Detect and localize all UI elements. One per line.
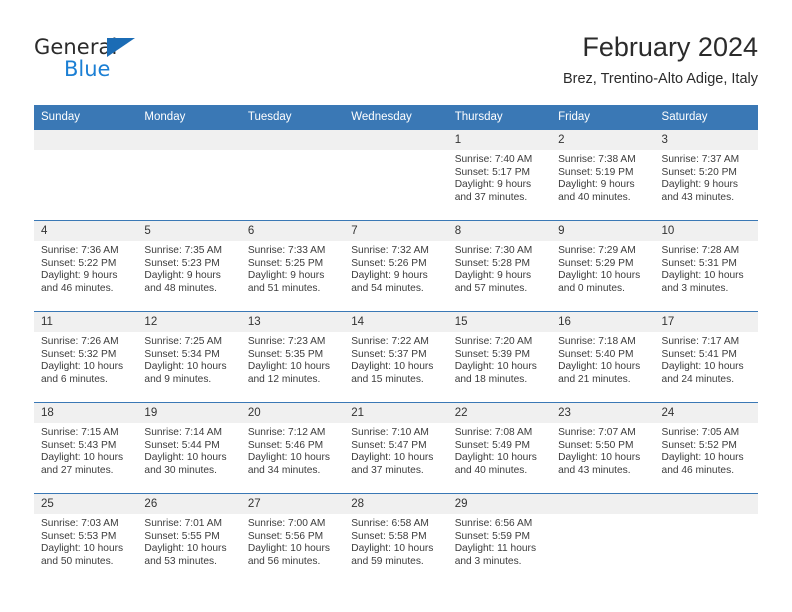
day-cell[interactable]: 15Sunrise: 7:20 AMSunset: 5:39 PMDayligh… — [448, 312, 551, 403]
day-number: 15 — [448, 312, 551, 332]
day-details: Sunrise: 7:10 AMSunset: 5:47 PMDaylight:… — [344, 423, 447, 477]
daylight-text-line1: Daylight: 10 hours — [41, 361, 131, 374]
day-cell[interactable]: 1Sunrise: 7:40 AMSunset: 5:17 PMDaylight… — [448, 130, 551, 221]
daylight-text-line1: Daylight: 10 hours — [662, 361, 752, 374]
day-number: 6 — [241, 221, 344, 241]
day-cell[interactable]: 13Sunrise: 7:23 AMSunset: 5:35 PMDayligh… — [241, 312, 344, 403]
daylight-text-line2: and 3 minutes. — [455, 556, 545, 569]
daylight-text-line2: and 43 minutes. — [662, 192, 752, 205]
sunrise-text: Sunrise: 7:00 AM — [248, 518, 338, 531]
daylight-text-line2: and 50 minutes. — [41, 556, 131, 569]
daylight-text-line1: Daylight: 9 hours — [455, 270, 545, 283]
day-details: Sunrise: 7:26 AMSunset: 5:32 PMDaylight:… — [34, 332, 137, 386]
day-details: Sunrise: 7:35 AMSunset: 5:23 PMDaylight:… — [137, 241, 240, 295]
day-details: Sunrise: 7:00 AMSunset: 5:56 PMDaylight:… — [241, 514, 344, 568]
day-cell[interactable]: 4Sunrise: 7:36 AMSunset: 5:22 PMDaylight… — [34, 221, 137, 312]
day-details: Sunrise: 7:38 AMSunset: 5:19 PMDaylight:… — [551, 150, 654, 204]
day-cell[interactable]: 17Sunrise: 7:17 AMSunset: 5:41 PMDayligh… — [655, 312, 758, 403]
day-number: 28 — [344, 494, 447, 514]
day-details: Sunrise: 7:37 AMSunset: 5:20 PMDaylight:… — [655, 150, 758, 204]
week-row: 25Sunrise: 7:03 AMSunset: 5:53 PMDayligh… — [34, 494, 758, 585]
daylight-text-line2: and 18 minutes. — [455, 374, 545, 387]
week-row: 11Sunrise: 7:26 AMSunset: 5:32 PMDayligh… — [34, 312, 758, 403]
weekday-header-friday: Friday — [551, 105, 654, 130]
weekday-header-saturday: Saturday — [655, 105, 758, 130]
day-number: 12 — [137, 312, 240, 332]
sunrise-text: Sunrise: 7:37 AM — [662, 154, 752, 167]
calendar-page: General Blue February 2024 Brez, Trentin… — [0, 0, 792, 612]
sunset-text: Sunset: 5:19 PM — [558, 167, 648, 180]
sunrise-text: Sunrise: 7:20 AM — [455, 336, 545, 349]
day-number: 3 — [655, 130, 758, 150]
daylight-text-line2: and 27 minutes. — [41, 465, 131, 478]
weekday-header-row-group: Sunday Monday Tuesday Wednesday Thursday… — [34, 105, 758, 130]
day-details — [241, 150, 344, 154]
day-number: 23 — [551, 403, 654, 423]
month-calendar-table: Sunday Monday Tuesday Wednesday Thursday… — [34, 105, 758, 584]
sunrise-text: Sunrise: 7:33 AM — [248, 245, 338, 258]
day-details — [137, 150, 240, 154]
day-details: Sunrise: 7:15 AMSunset: 5:43 PMDaylight:… — [34, 423, 137, 477]
sunrise-text: Sunrise: 7:18 AM — [558, 336, 648, 349]
daylight-text-line2: and 57 minutes. — [455, 283, 545, 296]
day-cell[interactable] — [34, 130, 137, 221]
sunrise-text: Sunrise: 7:08 AM — [455, 427, 545, 440]
sunrise-text: Sunrise: 7:36 AM — [41, 245, 131, 258]
daylight-text-line1: Daylight: 9 hours — [455, 179, 545, 192]
day-number: 22 — [448, 403, 551, 423]
sunrise-text: Sunrise: 7:12 AM — [248, 427, 338, 440]
page-header: General Blue February 2024 Brez, Trentin… — [34, 30, 758, 96]
day-number: 20 — [241, 403, 344, 423]
day-number: 24 — [655, 403, 758, 423]
day-number — [241, 130, 344, 150]
sunrise-text: Sunrise: 7:35 AM — [144, 245, 234, 258]
day-cell[interactable]: 5Sunrise: 7:35 AMSunset: 5:23 PMDaylight… — [137, 221, 240, 312]
day-cell[interactable] — [655, 494, 758, 585]
day-number: 19 — [137, 403, 240, 423]
sunrise-text: Sunrise: 7:38 AM — [558, 154, 648, 167]
daylight-text-line1: Daylight: 9 hours — [41, 270, 131, 283]
sunset-text: Sunset: 5:39 PM — [455, 349, 545, 362]
sunset-text: Sunset: 5:52 PM — [662, 440, 752, 453]
day-number: 11 — [34, 312, 137, 332]
day-number: 27 — [241, 494, 344, 514]
weekday-header-wednesday: Wednesday — [344, 105, 447, 130]
daylight-text-line2: and 15 minutes. — [351, 374, 441, 387]
daylight-text-line2: and 30 minutes. — [144, 465, 234, 478]
sunset-text: Sunset: 5:29 PM — [558, 258, 648, 271]
day-details: Sunrise: 7:05 AMSunset: 5:52 PMDaylight:… — [655, 423, 758, 477]
day-details: Sunrise: 7:17 AMSunset: 5:41 PMDaylight:… — [655, 332, 758, 386]
daylight-text-line2: and 46 minutes. — [41, 283, 131, 296]
day-cell[interactable]: 2Sunrise: 7:38 AMSunset: 5:19 PMDaylight… — [551, 130, 654, 221]
day-number: 17 — [655, 312, 758, 332]
daylight-text-line1: Daylight: 10 hours — [351, 543, 441, 556]
daylight-text-line2: and 54 minutes. — [351, 283, 441, 296]
daylight-text-line2: and 3 minutes. — [662, 283, 752, 296]
day-details: Sunrise: 7:36 AMSunset: 5:22 PMDaylight:… — [34, 241, 137, 295]
sunset-text: Sunset: 5:20 PM — [662, 167, 752, 180]
sunset-text: Sunset: 5:28 PM — [455, 258, 545, 271]
weekday-header-tuesday: Tuesday — [241, 105, 344, 130]
day-cell[interactable]: 18Sunrise: 7:15 AMSunset: 5:43 PMDayligh… — [34, 403, 137, 494]
day-number: 21 — [344, 403, 447, 423]
sunset-text: Sunset: 5:47 PM — [351, 440, 441, 453]
sunset-text: Sunset: 5:46 PM — [248, 440, 338, 453]
day-details: Sunrise: 7:07 AMSunset: 5:50 PMDaylight:… — [551, 423, 654, 477]
day-number — [655, 494, 758, 514]
daylight-text-line2: and 24 minutes. — [662, 374, 752, 387]
day-details: Sunrise: 7:18 AMSunset: 5:40 PMDaylight:… — [551, 332, 654, 386]
sunset-text: Sunset: 5:55 PM — [144, 531, 234, 544]
daylight-text-line2: and 37 minutes. — [455, 192, 545, 205]
day-number: 2 — [551, 130, 654, 150]
day-cell[interactable]: 7Sunrise: 7:32 AMSunset: 5:26 PMDaylight… — [344, 221, 447, 312]
sunset-text: Sunset: 5:50 PM — [558, 440, 648, 453]
page-subtitle: Brez, Trentino-Alto Adige, Italy — [563, 68, 758, 90]
sunset-text: Sunset: 5:58 PM — [351, 531, 441, 544]
day-cell[interactable]: 14Sunrise: 7:22 AMSunset: 5:37 PMDayligh… — [344, 312, 447, 403]
daylight-text-line1: Daylight: 10 hours — [144, 543, 234, 556]
daylight-text-line2: and 21 minutes. — [558, 374, 648, 387]
day-details: Sunrise: 7:28 AMSunset: 5:31 PMDaylight:… — [655, 241, 758, 295]
week-row: 1Sunrise: 7:40 AMSunset: 5:17 PMDaylight… — [34, 130, 758, 221]
day-cell[interactable]: 10Sunrise: 7:28 AMSunset: 5:31 PMDayligh… — [655, 221, 758, 312]
title-block: February 2024 Brez, Trentino-Alto Adige,… — [563, 30, 758, 90]
weekday-header-thursday: Thursday — [448, 105, 551, 130]
day-details: Sunrise: 7:32 AMSunset: 5:26 PMDaylight:… — [344, 241, 447, 295]
daylight-text-line1: Daylight: 11 hours — [455, 543, 545, 556]
logo-word-blue: Blue — [64, 57, 110, 81]
daylight-text-line1: Daylight: 10 hours — [248, 452, 338, 465]
day-cell[interactable] — [137, 130, 240, 221]
calendar-body: 1Sunrise: 7:40 AMSunset: 5:17 PMDaylight… — [34, 130, 758, 584]
day-cell[interactable]: 20Sunrise: 7:12 AMSunset: 5:46 PMDayligh… — [241, 403, 344, 494]
day-details: Sunrise: 7:08 AMSunset: 5:49 PMDaylight:… — [448, 423, 551, 477]
sunrise-text: Sunrise: 7:01 AM — [144, 518, 234, 531]
day-cell[interactable]: 28Sunrise: 6:58 AMSunset: 5:58 PMDayligh… — [344, 494, 447, 585]
daylight-text-line2: and 12 minutes. — [248, 374, 338, 387]
day-cell[interactable]: 27Sunrise: 7:00 AMSunset: 5:56 PMDayligh… — [241, 494, 344, 585]
day-cell[interactable]: 12Sunrise: 7:25 AMSunset: 5:34 PMDayligh… — [137, 312, 240, 403]
weekday-header-row: Sunday Monday Tuesday Wednesday Thursday… — [34, 105, 758, 130]
day-details — [344, 150, 447, 154]
sunset-text: Sunset: 5:44 PM — [144, 440, 234, 453]
daylight-text-line1: Daylight: 10 hours — [144, 452, 234, 465]
daylight-text-line1: Daylight: 10 hours — [662, 452, 752, 465]
day-details: Sunrise: 7:22 AMSunset: 5:37 PMDaylight:… — [344, 332, 447, 386]
daylight-text-line2: and 43 minutes. — [558, 465, 648, 478]
day-cell[interactable]: 8Sunrise: 7:30 AMSunset: 5:28 PMDaylight… — [448, 221, 551, 312]
daylight-text-line2: and 46 minutes. — [662, 465, 752, 478]
sunrise-text: Sunrise: 7:30 AM — [455, 245, 545, 258]
sunset-text: Sunset: 5:25 PM — [248, 258, 338, 271]
sunset-text: Sunset: 5:40 PM — [558, 349, 648, 362]
day-number — [137, 130, 240, 150]
daylight-text-line2: and 0 minutes. — [558, 283, 648, 296]
day-cell[interactable]: 24Sunrise: 7:05 AMSunset: 5:52 PMDayligh… — [655, 403, 758, 494]
day-number: 5 — [137, 221, 240, 241]
day-number — [551, 494, 654, 514]
day-number: 16 — [551, 312, 654, 332]
day-cell[interactable]: 21Sunrise: 7:10 AMSunset: 5:47 PMDayligh… — [344, 403, 447, 494]
day-number — [344, 130, 447, 150]
day-cell[interactable]: 16Sunrise: 7:18 AMSunset: 5:40 PMDayligh… — [551, 312, 654, 403]
day-number: 10 — [655, 221, 758, 241]
day-number: 29 — [448, 494, 551, 514]
day-number: 14 — [344, 312, 447, 332]
day-details: Sunrise: 7:14 AMSunset: 5:44 PMDaylight:… — [137, 423, 240, 477]
sunset-text: Sunset: 5:26 PM — [351, 258, 441, 271]
sunrise-text: Sunrise: 7:23 AM — [248, 336, 338, 349]
day-number: 7 — [344, 221, 447, 241]
sunrise-text: Sunrise: 7:17 AM — [662, 336, 752, 349]
daylight-text-line1: Daylight: 9 hours — [351, 270, 441, 283]
sunrise-text: Sunrise: 7:25 AM — [144, 336, 234, 349]
day-cell[interactable]: 11Sunrise: 7:26 AMSunset: 5:32 PMDayligh… — [34, 312, 137, 403]
daylight-text-line2: and 56 minutes. — [248, 556, 338, 569]
daylight-text-line1: Daylight: 10 hours — [41, 543, 131, 556]
daylight-text-line1: Daylight: 10 hours — [455, 361, 545, 374]
day-details — [34, 150, 137, 154]
weekday-header-monday: Monday — [137, 105, 240, 130]
general-blue-logo[interactable]: General Blue — [34, 35, 254, 91]
sunrise-text: Sunrise: 7:32 AM — [351, 245, 441, 258]
day-cell[interactable] — [344, 130, 447, 221]
daylight-text-line2: and 53 minutes. — [144, 556, 234, 569]
day-number: 8 — [448, 221, 551, 241]
day-details: Sunrise: 7:03 AMSunset: 5:53 PMDaylight:… — [34, 514, 137, 568]
day-number: 25 — [34, 494, 137, 514]
daylight-text-line1: Daylight: 9 hours — [558, 179, 648, 192]
daylight-text-line2: and 40 minutes. — [455, 465, 545, 478]
sunset-text: Sunset: 5:23 PM — [144, 258, 234, 271]
daylight-text-line1: Daylight: 9 hours — [662, 179, 752, 192]
day-number — [34, 130, 137, 150]
week-row: 4Sunrise: 7:36 AMSunset: 5:22 PMDaylight… — [34, 221, 758, 312]
day-number: 18 — [34, 403, 137, 423]
daylight-text-line2: and 9 minutes. — [144, 374, 234, 387]
day-details: Sunrise: 7:12 AMSunset: 5:46 PMDaylight:… — [241, 423, 344, 477]
daylight-text-line1: Daylight: 10 hours — [144, 361, 234, 374]
daylight-text-line1: Daylight: 10 hours — [351, 361, 441, 374]
day-details: Sunrise: 7:40 AMSunset: 5:17 PMDaylight:… — [448, 150, 551, 204]
daylight-text-line2: and 48 minutes. — [144, 283, 234, 296]
day-details: Sunrise: 7:30 AMSunset: 5:28 PMDaylight:… — [448, 241, 551, 295]
daylight-text-line1: Daylight: 9 hours — [248, 270, 338, 283]
logo-word-general: General — [34, 35, 117, 59]
sunset-text: Sunset: 5:22 PM — [41, 258, 131, 271]
sunset-text: Sunset: 5:17 PM — [455, 167, 545, 180]
daylight-text-line2: and 37 minutes. — [351, 465, 441, 478]
sunrise-text: Sunrise: 6:56 AM — [455, 518, 545, 531]
day-details: Sunrise: 7:29 AMSunset: 5:29 PMDaylight:… — [551, 241, 654, 295]
sunset-text: Sunset: 5:53 PM — [41, 531, 131, 544]
day-cell[interactable]: 29Sunrise: 6:56 AMSunset: 5:59 PMDayligh… — [448, 494, 551, 585]
day-number: 13 — [241, 312, 344, 332]
sunset-text: Sunset: 5:49 PM — [455, 440, 545, 453]
sunrise-text: Sunrise: 6:58 AM — [351, 518, 441, 531]
day-cell[interactable]: 25Sunrise: 7:03 AMSunset: 5:53 PMDayligh… — [34, 494, 137, 585]
day-details: Sunrise: 7:20 AMSunset: 5:39 PMDaylight:… — [448, 332, 551, 386]
sunrise-text: Sunrise: 7:40 AM — [455, 154, 545, 167]
daylight-text-line1: Daylight: 10 hours — [351, 452, 441, 465]
day-details: Sunrise: 6:56 AMSunset: 5:59 PMDaylight:… — [448, 514, 551, 568]
daylight-text-line1: Daylight: 10 hours — [558, 270, 648, 283]
daylight-text-line2: and 59 minutes. — [351, 556, 441, 569]
daylight-text-line1: Daylight: 10 hours — [248, 543, 338, 556]
page-title: February 2024 — [563, 30, 758, 64]
day-cell[interactable] — [551, 494, 654, 585]
day-cell[interactable]: 26Sunrise: 7:01 AMSunset: 5:55 PMDayligh… — [137, 494, 240, 585]
daylight-text-line1: Daylight: 10 hours — [248, 361, 338, 374]
week-row: 18Sunrise: 7:15 AMSunset: 5:43 PMDayligh… — [34, 403, 758, 494]
day-cell[interactable]: 23Sunrise: 7:07 AMSunset: 5:50 PMDayligh… — [551, 403, 654, 494]
day-details — [655, 514, 758, 518]
daylight-text-line1: Daylight: 10 hours — [558, 452, 648, 465]
sunset-text: Sunset: 5:32 PM — [41, 349, 131, 362]
sunrise-text: Sunrise: 7:07 AM — [558, 427, 648, 440]
sunset-text: Sunset: 5:41 PM — [662, 349, 752, 362]
day-cell[interactable]: 3Sunrise: 7:37 AMSunset: 5:20 PMDaylight… — [655, 130, 758, 221]
sunrise-text: Sunrise: 7:14 AM — [144, 427, 234, 440]
sunrise-text: Sunrise: 7:29 AM — [558, 245, 648, 258]
sunrise-text: Sunrise: 7:22 AM — [351, 336, 441, 349]
daylight-text-line1: Daylight: 10 hours — [662, 270, 752, 283]
daylight-text-line2: and 6 minutes. — [41, 374, 131, 387]
sunrise-text: Sunrise: 7:05 AM — [662, 427, 752, 440]
day-cell[interactable]: 9Sunrise: 7:29 AMSunset: 5:29 PMDaylight… — [551, 221, 654, 312]
day-cell[interactable] — [241, 130, 344, 221]
sunset-text: Sunset: 5:56 PM — [248, 531, 338, 544]
sunrise-text: Sunrise: 7:15 AM — [41, 427, 131, 440]
day-number: 4 — [34, 221, 137, 241]
sunset-text: Sunset: 5:35 PM — [248, 349, 338, 362]
daylight-text-line1: Daylight: 10 hours — [558, 361, 648, 374]
day-details: Sunrise: 7:25 AMSunset: 5:34 PMDaylight:… — [137, 332, 240, 386]
day-cell[interactable]: 22Sunrise: 7:08 AMSunset: 5:49 PMDayligh… — [448, 403, 551, 494]
logo-triangle-icon — [107, 38, 135, 57]
day-details — [551, 514, 654, 518]
day-number: 9 — [551, 221, 654, 241]
sunset-text: Sunset: 5:59 PM — [455, 531, 545, 544]
daylight-text-line1: Daylight: 10 hours — [455, 452, 545, 465]
daylight-text-line1: Daylight: 9 hours — [144, 270, 234, 283]
day-details: Sunrise: 7:01 AMSunset: 5:55 PMDaylight:… — [137, 514, 240, 568]
daylight-text-line2: and 34 minutes. — [248, 465, 338, 478]
daylight-text-line2: and 51 minutes. — [248, 283, 338, 296]
day-details: Sunrise: 7:23 AMSunset: 5:35 PMDaylight:… — [241, 332, 344, 386]
sunrise-text: Sunrise: 7:28 AM — [662, 245, 752, 258]
daylight-text-line1: Daylight: 10 hours — [41, 452, 131, 465]
sunset-text: Sunset: 5:31 PM — [662, 258, 752, 271]
sunrise-text: Sunrise: 7:10 AM — [351, 427, 441, 440]
sunset-text: Sunset: 5:37 PM — [351, 349, 441, 362]
day-cell[interactable]: 6Sunrise: 7:33 AMSunset: 5:25 PMDaylight… — [241, 221, 344, 312]
day-number: 1 — [448, 130, 551, 150]
sunset-text: Sunset: 5:43 PM — [41, 440, 131, 453]
weekday-header-sunday: Sunday — [34, 105, 137, 130]
sunrise-text: Sunrise: 7:03 AM — [41, 518, 131, 531]
day-details: Sunrise: 7:33 AMSunset: 5:25 PMDaylight:… — [241, 241, 344, 295]
day-details: Sunrise: 6:58 AMSunset: 5:58 PMDaylight:… — [344, 514, 447, 568]
day-number: 26 — [137, 494, 240, 514]
sunrise-text: Sunrise: 7:26 AM — [41, 336, 131, 349]
daylight-text-line2: and 40 minutes. — [558, 192, 648, 205]
sunset-text: Sunset: 5:34 PM — [144, 349, 234, 362]
day-cell[interactable]: 19Sunrise: 7:14 AMSunset: 5:44 PMDayligh… — [137, 403, 240, 494]
